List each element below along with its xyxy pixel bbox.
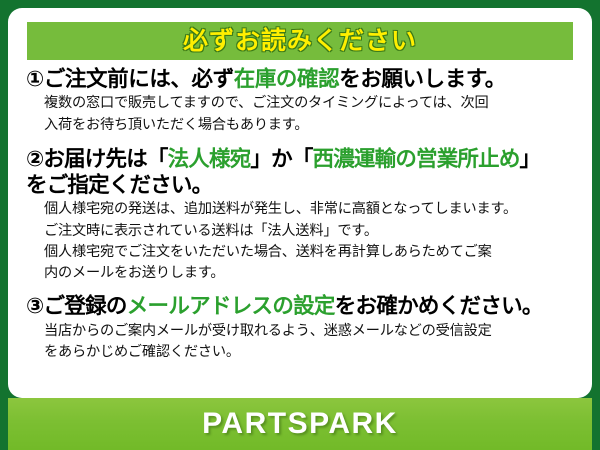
item-1-marker: ① [26,67,44,91]
item-1-heading: ①ご注文前には、必ず在庫の確認をお願いします。 [26,66,574,92]
notice-item-1: ①ご注文前には、必ず在庫の確認をお願いします。 複数の窓口で販売してますので、ご… [26,66,574,136]
item-2-heading-highlight-1: 法人様宛 [168,147,251,171]
item-2-heading: ②お届け先は「法人様宛」か「西濃運輸の営業所止め」をご指定ください。 [26,146,574,198]
notice-item-2: ②お届け先は「法人様宛」か「西濃運輸の営業所止め」をご指定ください。 個人様宅宛… [26,146,574,285]
brand-logo-text: PARTSPARK [202,409,398,439]
item-2-heading-highlight-2: 西濃運輸の営業所止め [313,147,520,171]
item-3-body: 当店からのご案内メールが受け取れるよう、迷惑メールなどの受信設定 をあらかじめご… [44,321,574,364]
item-2-body: 個人様宅宛の発送は、追加送料が発生し、非常に高額となってしまいます。 ご注文時に… [44,199,574,284]
notice-item-3: ③ご登録のメールアドレスの設定をお確かめください。 当店からのご案内メールが受け… [26,293,574,363]
item-2-body-line-3: 個人様宅宛でご注文をいただいた場合、送料を再計算しあらためてご案 [44,242,574,263]
item-3-body-line-2: をあらかじめご確認ください。 [44,342,574,363]
item-3-heading: ③ご登録のメールアドレスの設定をお確かめください。 [26,293,574,319]
item-1-heading-part-3: をお願いします。 [339,67,506,91]
item-2-heading-part-1: お届け先は「 [43,147,167,171]
item-2-marker: ② [26,147,43,171]
banner-title: 必ずお読みください [183,29,417,54]
item-1-heading-part-1: ご注文前には、必ず [44,67,234,91]
notice-panel: 必ずお読みください ①ご注文前には、必ず在庫の確認をお願いします。 複数の窓口で… [8,8,592,398]
item-1-heading-highlight: 在庫の確認 [234,67,340,91]
item-3-heading-highlight: メールアドレスの設定 [127,294,335,318]
item-2-body-line-1: 個人様宅宛の発送は、追加送料が発生し、非常に高額となってしまいます。 [44,199,574,220]
item-1-body-line-1: 複数の窓口で販売してますので、ご注文のタイミングによっては、次回 [44,93,574,114]
item-3-body-line-1: 当店からのご案内メールが受け取れるよう、迷惑メールなどの受信設定 [44,321,574,342]
item-2-heading-part-5: 」 [520,147,541,171]
item-3-heading-part-1: ご登録の [44,294,127,318]
item-1-body-line-2: 入荷をお待ち頂いただく場合もあります。 [44,115,574,136]
item-2-body-line-2: ご注文時に表示されている送料は「法人送料」です。 [44,221,574,242]
item-2-heading-part-6: をご指定ください。 [26,173,212,197]
notice-banner: 必ずお読みください [27,22,573,60]
item-3-marker: ③ [26,294,44,318]
item-3-heading-part-3: をお確かめください。 [335,294,543,318]
item-1-body: 複数の窓口で販売してますので、ご注文のタイミングによっては、次回 入荷をお待ち頂… [44,93,574,136]
item-2-heading-part-3: 」か「 [250,147,312,171]
notice-footer: PARTSPARK [8,398,592,450]
item-2-body-line-4: 内のメールをお送りします。 [44,263,574,284]
notice-frame: 必ずお読みください ①ご注文前には、必ず在庫の確認をお願いします。 複数の窓口で… [0,0,600,450]
